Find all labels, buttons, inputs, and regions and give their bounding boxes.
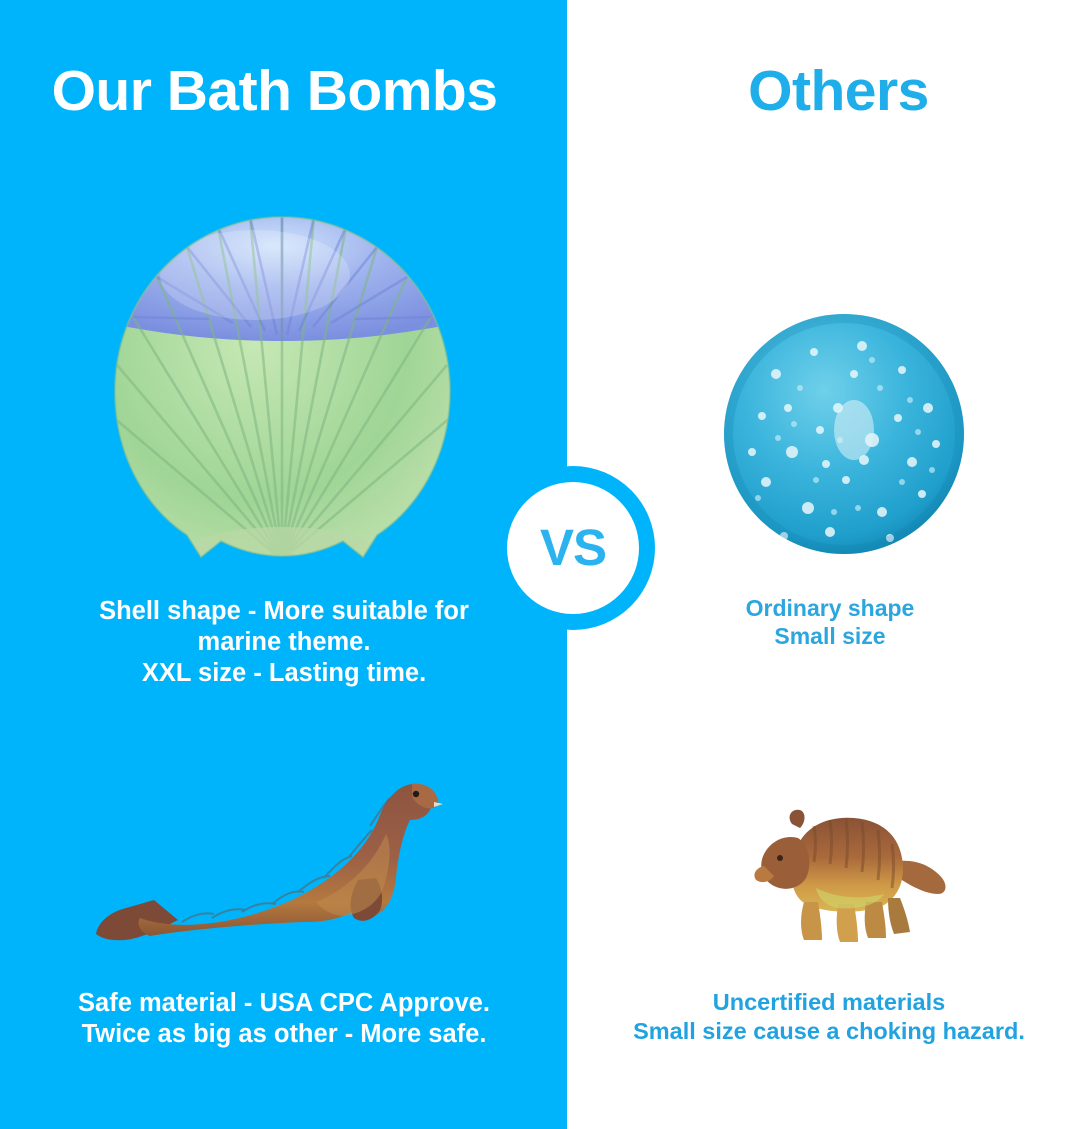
caption-line: Small size [610, 622, 1050, 650]
vs-badge: VS [491, 466, 655, 630]
dinosaur-toy-image [742, 792, 958, 950]
round-blue-bath-bomb-image [722, 312, 966, 556]
left-column-heading: Our Bath Bombs [0, 63, 567, 120]
right-top-caption: Ordinary shape Small size [610, 594, 1050, 650]
left-bottom-caption: Safe material - USA CPC Approve. Twice a… [10, 988, 558, 1050]
left-top-caption: Shell shape - More suitable for marine t… [14, 596, 554, 689]
caption-line: Twice as big as other - More safe. [10, 1019, 558, 1050]
caption-line: Safe material - USA CPC Approve. [10, 988, 558, 1019]
caption-line: marine theme. [14, 627, 554, 658]
vs-label: VS [540, 522, 606, 573]
caption-line: Uncertified materials [568, 988, 1090, 1017]
shell-bath-bomb-image [105, 205, 460, 570]
right-bottom-caption: Uncertified materials Small size cause a… [568, 988, 1090, 1045]
caption-line: XXL size - Lasting time. [14, 658, 554, 689]
comparison-infographic: Our Bath Bombs Others [0, 0, 1090, 1129]
sea-lion-toy-image [82, 762, 444, 958]
caption-line: Shell shape - More suitable for [14, 596, 554, 627]
caption-line: Ordinary shape [610, 594, 1050, 622]
caption-line: Small size cause a choking hazard. [568, 1017, 1090, 1046]
right-column-heading: Others [567, 63, 1090, 120]
vs-badge-inner: VS [507, 482, 639, 614]
